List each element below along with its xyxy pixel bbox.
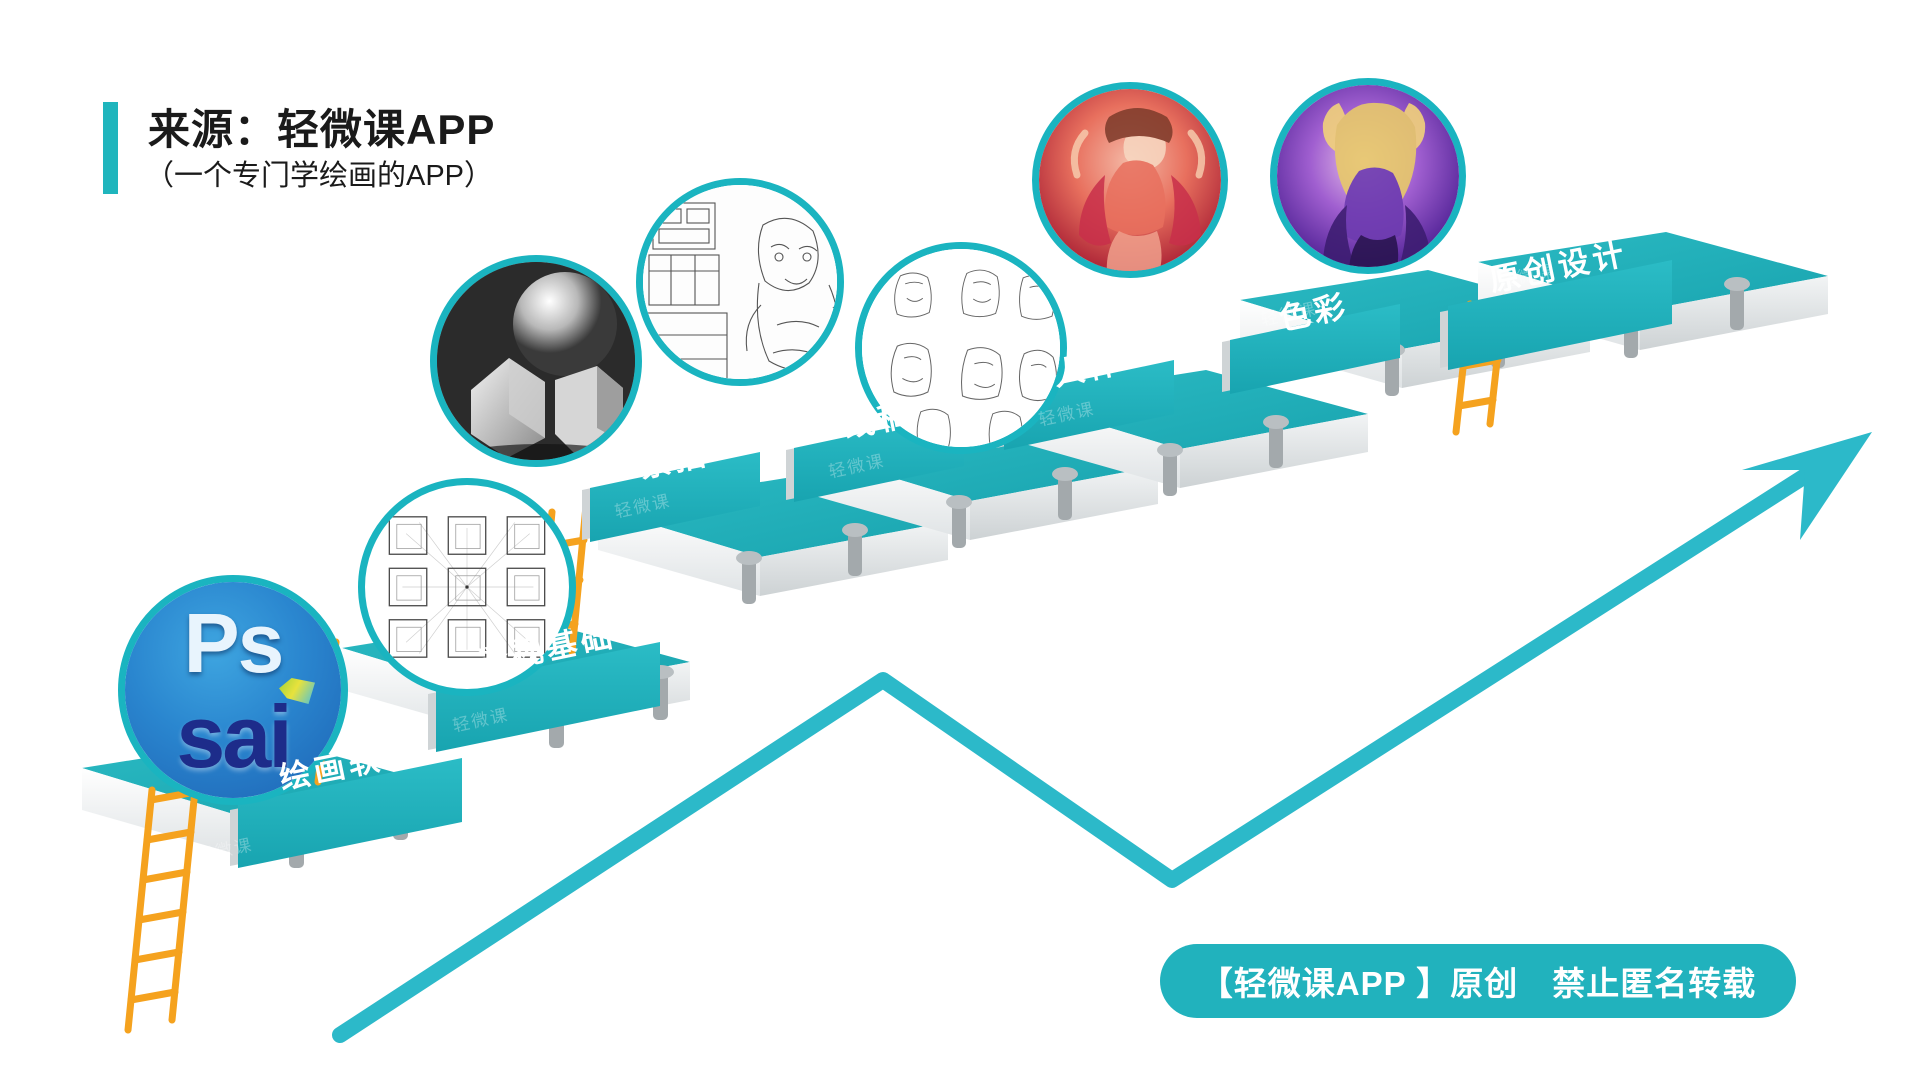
- circle-still-life-sketch[interactable]: [430, 255, 642, 467]
- original-design-image: [1277, 85, 1459, 267]
- infographic-canvas: 来源：轻微课APP （一个专门学绘画的APP） Ps sai: [0, 0, 1920, 1080]
- color-illustration-image: [1039, 89, 1221, 271]
- plaque-text-4: 线稿: [839, 388, 917, 446]
- still-life-image: [437, 262, 635, 460]
- page-title: 来源：轻微课APP: [148, 96, 495, 157]
- accent-bar: [103, 102, 118, 194]
- circle-line-art[interactable]: [636, 178, 844, 386]
- copyright-banner: 【轻微课APP 】原创 禁止匿名转载: [1160, 944, 1796, 1018]
- plaque-text-3: 素描: [635, 428, 713, 486]
- page-subtitle: （一个专门学绘画的APP）: [145, 152, 493, 194]
- photoshop-label: Ps: [125, 595, 341, 692]
- plaque-text-5: 人体: [1049, 336, 1127, 394]
- circle-color-illustration[interactable]: [1032, 82, 1228, 278]
- line-art-image: [643, 185, 837, 379]
- copyright-banner-text: 【轻微课APP 】原创 禁止匿名转载: [1200, 957, 1756, 1005]
- plaque-text-6: 色彩: [1275, 280, 1353, 338]
- circle-original-design[interactable]: [1270, 78, 1466, 274]
